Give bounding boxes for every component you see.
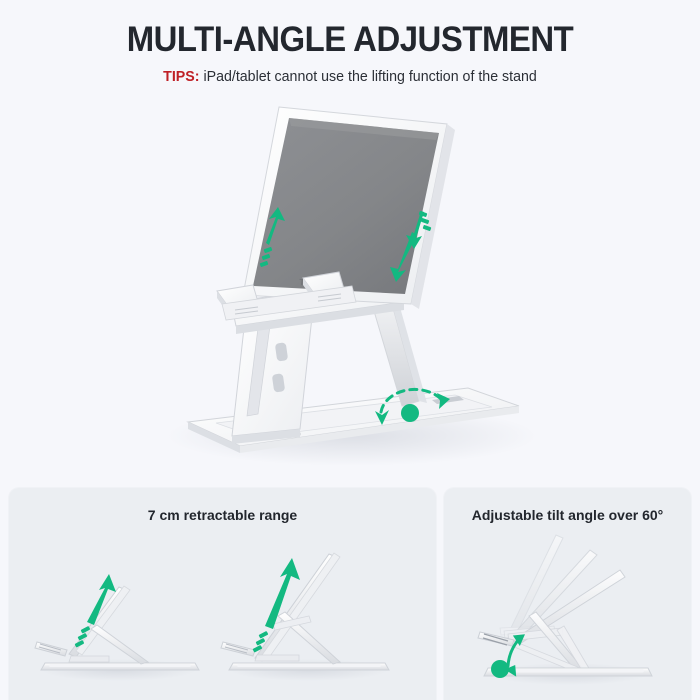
panel-art-tilt	[444, 530, 691, 700]
tilt-ghost-positions	[478, 535, 625, 646]
panel-art-retractable	[9, 530, 436, 700]
product-feature-image: MULTI-ANGLE ADJUSTMENT TIPS: iPad/tablet…	[0, 0, 700, 700]
tips-line: TIPS: iPad/tablet cannot use the lifting…	[7, 70, 693, 85]
figure-stand-extended	[221, 553, 389, 681]
hero-product-illustration: TOPK	[0, 96, 700, 471]
back-panel-assembly: TOPK	[243, 107, 455, 309]
panel-caption-tilt: Adjustable tilt angle over 60°	[444, 508, 691, 522]
panel-retractable-range: 7 cm retractable range	[8, 487, 437, 700]
pivot-dot	[401, 404, 419, 422]
panel-caption-retractable: 7 cm retractable range	[9, 508, 436, 522]
tips-text: iPad/tablet cannot use the lifting funct…	[203, 69, 536, 85]
feature-panels: 7 cm retractable range	[0, 487, 700, 700]
panel-tilt-angle: Adjustable tilt angle over 60°	[443, 487, 692, 700]
tips-label: TIPS:	[163, 69, 199, 85]
header: MULTI-ANGLE ADJUSTMENT TIPS: iPad/tablet…	[0, 22, 700, 85]
page-title: MULTI-ANGLE ADJUSTMENT	[21, 22, 679, 57]
tilt-pivot-dot	[491, 660, 509, 678]
figure-stand-retracted	[35, 574, 199, 681]
